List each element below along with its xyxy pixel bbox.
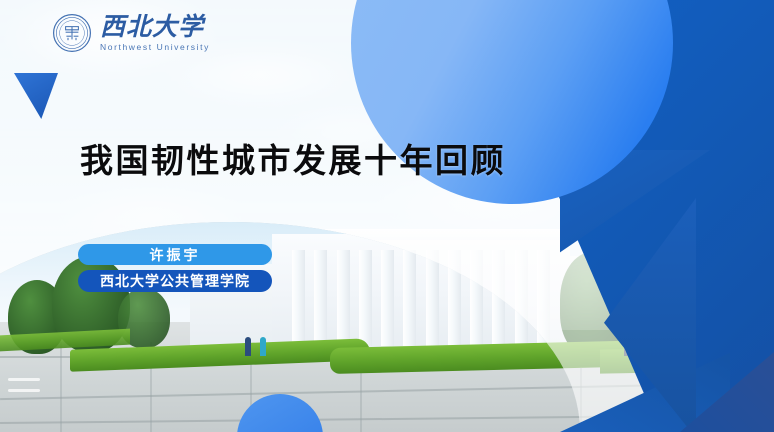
logo-name-cn: 西北大学 (100, 15, 210, 40)
slide-title: 我国韧性城市发展十年回顾 (80, 134, 506, 182)
logo-text: 西北大学 Northwest University (100, 15, 210, 52)
author-pill: 许振宇 (78, 244, 272, 265)
affiliation-pill: 西北大学公共管理学院 (78, 270, 272, 292)
university-logo: 西北大学 Northwest University (52, 13, 210, 53)
edge-tick (8, 389, 40, 392)
person (260, 337, 266, 356)
person (245, 337, 251, 356)
title-slide: 西北大学 Northwest University 我国韧性城市发展十年回顾 许… (0, 0, 774, 432)
logo-name-en: Northwest University (100, 43, 210, 52)
university-seal-icon (52, 13, 92, 53)
edge-tick (8, 378, 40, 381)
plaza-paver (60, 342, 62, 432)
building-colonnade-clear (292, 250, 550, 346)
